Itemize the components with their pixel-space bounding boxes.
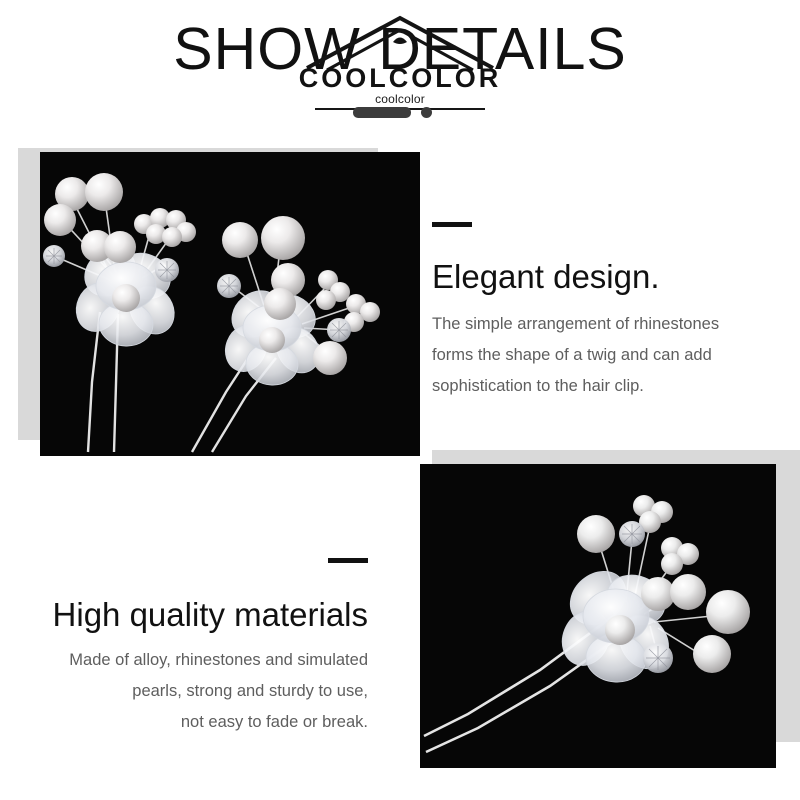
section-body-line: not easy to fade or break. [28, 707, 368, 738]
hair-pin-single-illustration [420, 464, 776, 768]
section-body-line: Made of alloy, rhinestones and simulated [28, 645, 368, 676]
hair-pins-pair-illustration [40, 152, 420, 456]
section-heading: High quality materials [28, 595, 368, 635]
section-body-line: forms the shape of a twig and can add [432, 340, 772, 371]
section-body: Made of alloy, rhinestones and simulated… [28, 645, 368, 738]
watermark-rule [315, 108, 485, 110]
product-detail-page: SHOW DETAILS COOLCOLOR coolcolor [0, 0, 800, 800]
section-rule-dash [328, 558, 368, 563]
section-rule-dash [432, 222, 472, 227]
page-header: SHOW DETAILS COOLCOLOR coolcolor [0, 0, 800, 130]
section-body-line: The simple arrangement of rhinestones [432, 309, 772, 340]
product-photo-two[interactable] [420, 464, 776, 768]
product-photo-one[interactable] [40, 152, 420, 456]
section-heading: Elegant design. [432, 257, 772, 297]
watermark-sub-text: coolcolor [297, 92, 503, 106]
section-body-line: pearls, strong and sturdy to use, [28, 676, 368, 707]
product-photo-block-two [400, 440, 800, 780]
watermark-bar [353, 107, 411, 118]
watermark-dot [421, 107, 432, 118]
section-body-line: sophistication to the hair clip. [432, 371, 772, 402]
section-high-quality-materials: High quality materials Made of alloy, rh… [28, 558, 368, 738]
section-body: The simple arrangement of rhinestones fo… [432, 309, 772, 402]
page-title: SHOW DETAILS [0, 18, 800, 80]
product-photo-block-one [0, 130, 430, 470]
section-elegant-design: Elegant design. The simple arrangement o… [432, 222, 772, 402]
